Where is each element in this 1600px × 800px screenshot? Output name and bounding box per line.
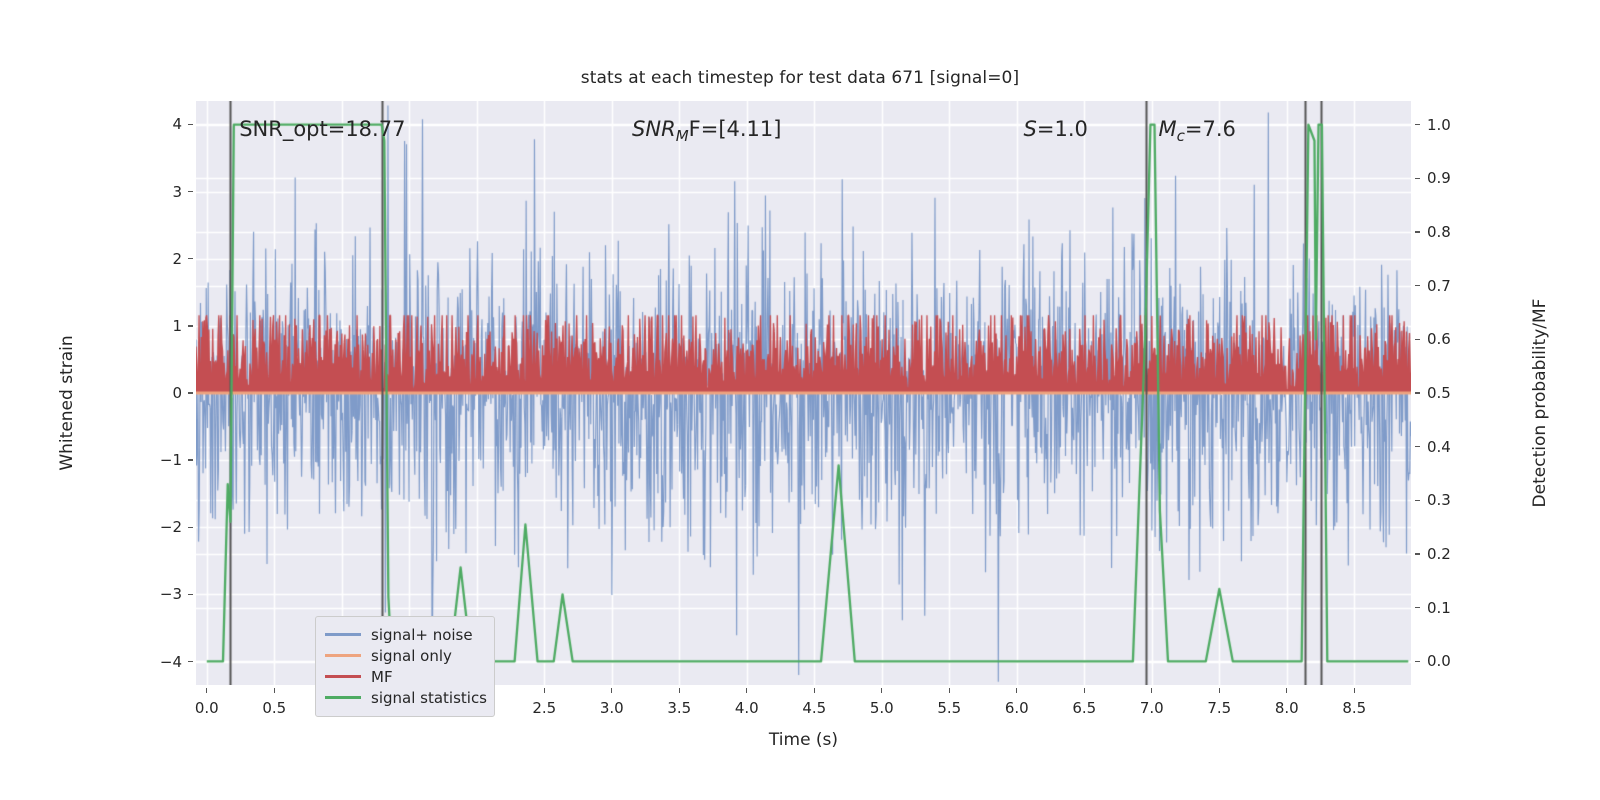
- x-tick-4.5: 4.5: [802, 699, 826, 717]
- y-tick-left-4: 4: [134, 115, 182, 133]
- x-tick-0.5: 0.5: [262, 699, 286, 717]
- x-tick-2.5: 2.5: [532, 699, 556, 717]
- y-tick-left-0: 0: [134, 384, 182, 402]
- x-tick-6.5: 6.5: [1072, 699, 1096, 717]
- y-tick-right-0.5: 0.5: [1427, 384, 1451, 402]
- y-tick-left-1: 1: [134, 317, 182, 335]
- x-tick-0.0: 0.0: [195, 699, 219, 717]
- x-tick-8.0: 8.0: [1275, 699, 1299, 717]
- y-tick-right-0.7: 0.7: [1427, 277, 1451, 295]
- legend[interactable]: signal+ noisesignal onlyMFsignal statist…: [315, 616, 495, 717]
- legend-swatch-icon: [325, 696, 361, 699]
- x-tick-mark: [1354, 688, 1355, 693]
- y-tick-mark-right: [1415, 231, 1420, 232]
- y-tick-mark-right: [1415, 607, 1420, 608]
- x-tick-mark: [814, 688, 815, 693]
- legend-item-signal-noise[interactable]: signal+ noise: [325, 624, 485, 645]
- x-tick-8.5: 8.5: [1342, 699, 1366, 717]
- x-tick-mark: [1151, 688, 1152, 693]
- y-tick-right-0.8: 0.8: [1427, 223, 1451, 241]
- y-tick-mark-right: [1415, 392, 1420, 393]
- x-tick-mark: [1219, 688, 1220, 693]
- y-tick-mark-left: [188, 661, 193, 662]
- legend-item-signal-only[interactable]: signal only: [325, 645, 485, 666]
- y-tick-left-neg4: −4: [134, 653, 182, 671]
- x-tick-mark: [1286, 688, 1287, 693]
- x-tick-5.0: 5.0: [870, 699, 894, 717]
- y-tick-mark-left: [188, 325, 193, 326]
- legend-item-signal-statistics[interactable]: signal statistics: [325, 687, 485, 708]
- y-tick-right-0.6: 0.6: [1427, 330, 1451, 348]
- y-tick-mark-right: [1415, 124, 1420, 125]
- x-axis-label: Time (s): [196, 730, 1411, 750]
- legend-label: signal only: [371, 647, 452, 665]
- y-tick-left-3: 3: [134, 183, 182, 201]
- legend-label: signal+ noise: [371, 626, 473, 644]
- legend-swatch-icon: [325, 675, 361, 678]
- y-tick-mark-left: [188, 459, 193, 460]
- y-tick-right-0.4: 0.4: [1427, 438, 1451, 456]
- figure: stats at each timestep for test data 671…: [0, 0, 1600, 800]
- y-axis-label-left: Whitened strain: [57, 283, 77, 523]
- y-tick-mark-right: [1415, 178, 1420, 179]
- y-tick-mark-left: [188, 392, 193, 393]
- y-tick-left-neg2: −2: [134, 518, 182, 536]
- y-tick-left-neg1: −1: [134, 451, 182, 469]
- x-tick-5.5: 5.5: [937, 699, 961, 717]
- y-tick-right-0.0: 0.0: [1427, 652, 1451, 670]
- y-tick-mark-right: [1415, 339, 1420, 340]
- y-tick-mark-left: [188, 124, 193, 125]
- page-title: stats at each timestep for test data 671…: [0, 68, 1600, 88]
- y-axis-label-right: Detection probability/MF: [1530, 243, 1550, 563]
- x-tick-mark: [206, 688, 207, 693]
- legend-item-mf[interactable]: MF: [325, 666, 485, 687]
- y-tick-mark-right: [1415, 446, 1420, 447]
- y-tick-right-0.2: 0.2: [1427, 545, 1451, 563]
- x-tick-mark: [1016, 688, 1017, 693]
- x-tick-3.5: 3.5: [667, 699, 691, 717]
- legend-swatch-icon: [325, 633, 361, 636]
- annotation-snr-mf: SNRMF=[4.11]: [632, 117, 781, 145]
- x-tick-4.0: 4.0: [735, 699, 759, 717]
- y-tick-mark-right: [1415, 285, 1420, 286]
- y-tick-mark-right: [1415, 553, 1420, 554]
- annotation-chirp-mass: Mc=7.6: [1159, 117, 1236, 145]
- x-tick-mark: [544, 688, 545, 693]
- x-tick-mark: [274, 688, 275, 693]
- x-tick-mark: [611, 688, 612, 693]
- y-tick-mark-left: [188, 594, 193, 595]
- y-tick-mark-right: [1415, 661, 1420, 662]
- y-tick-right-1.0: 1.0: [1427, 116, 1451, 134]
- legend-swatch-icon: [325, 654, 361, 657]
- legend-label: MF: [371, 668, 393, 686]
- x-tick-mark: [881, 688, 882, 693]
- x-tick-mark: [949, 688, 950, 693]
- y-tick-mark-left: [188, 258, 193, 259]
- legend-label: signal statistics: [371, 689, 487, 707]
- x-tick-7.5: 7.5: [1207, 699, 1231, 717]
- x-tick-mark: [1084, 688, 1085, 693]
- y-tick-right-0.9: 0.9: [1427, 169, 1451, 187]
- plot-canvas[interactable]: [196, 101, 1411, 685]
- y-tick-mark-right: [1415, 500, 1420, 501]
- plot-area[interactable]: [196, 101, 1411, 685]
- x-tick-3.0: 3.0: [600, 699, 624, 717]
- x-tick-mark: [746, 688, 747, 693]
- x-tick-7.0: 7.0: [1140, 699, 1164, 717]
- annotation-s-stat: S=1.0: [1024, 117, 1088, 141]
- y-tick-left-neg3: −3: [134, 585, 182, 603]
- y-tick-mark-left: [188, 527, 193, 528]
- x-tick-6.0: 6.0: [1005, 699, 1029, 717]
- annotation-snr-opt: SNR_opt=18.77: [239, 117, 405, 141]
- x-tick-mark: [679, 688, 680, 693]
- y-tick-mark-left: [188, 191, 193, 192]
- y-tick-right-0.1: 0.1: [1427, 599, 1451, 617]
- y-tick-right-0.3: 0.3: [1427, 491, 1451, 509]
- y-tick-left-2: 2: [134, 250, 182, 268]
